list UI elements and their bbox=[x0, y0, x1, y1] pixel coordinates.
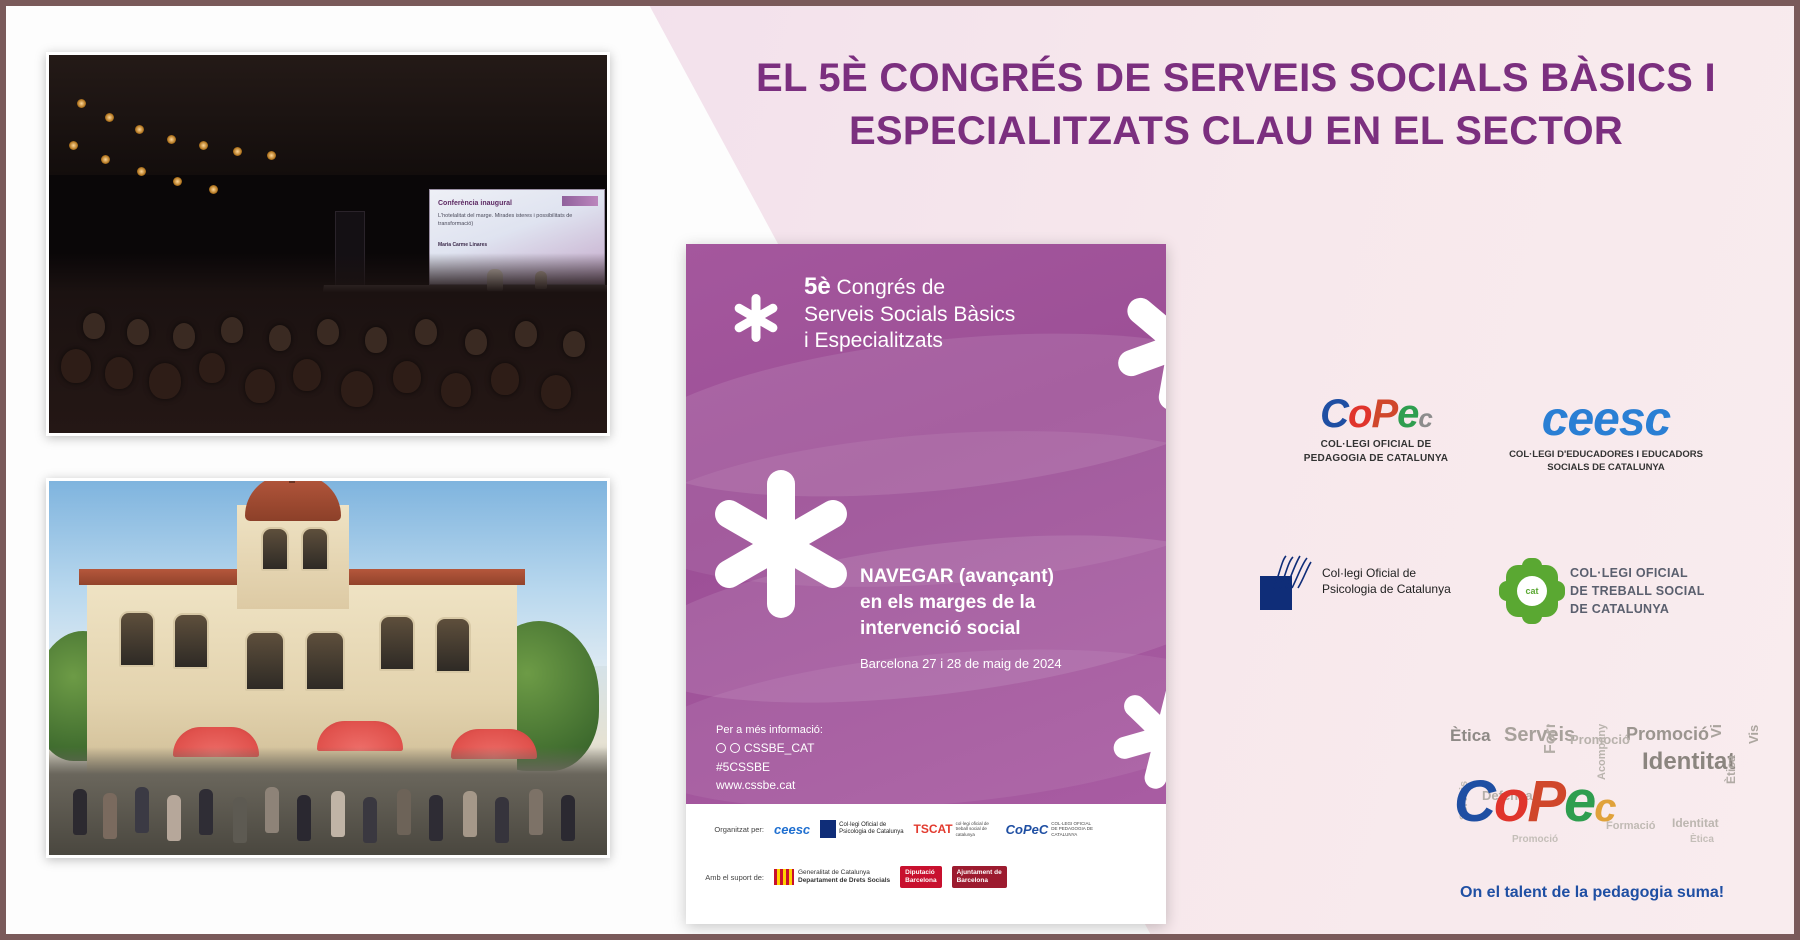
tscat-gear-icon: cat bbox=[1506, 565, 1558, 617]
wc-letter-o: o bbox=[1494, 769, 1527, 834]
organizer-1-name: Col·legi Oficial de bbox=[839, 822, 886, 828]
copec-letter-o: o bbox=[1348, 392, 1371, 436]
wordcloud-word-2: Promoció bbox=[1626, 724, 1709, 745]
wordcloud-word-13: Visibilitat bbox=[1746, 724, 1761, 744]
screen-speaker: Maria Carme Linares bbox=[438, 242, 487, 248]
info-label: Per a més informació: bbox=[716, 722, 823, 739]
wordcloud-word-10: Identitat bbox=[1672, 816, 1719, 830]
building-photo bbox=[46, 478, 610, 858]
slogan-line-2: en els marges de la bbox=[860, 590, 1054, 616]
poster-edition: 5è bbox=[804, 273, 831, 300]
website: www.cssbe.cat bbox=[716, 776, 823, 795]
organizer-logo-psicologia: Col·legi Oficial de Psicologia de Catalu… bbox=[820, 816, 903, 842]
wc-letter-c2: c bbox=[1594, 786, 1614, 830]
asterisk-icon-small bbox=[728, 290, 784, 346]
screen-logo bbox=[562, 196, 598, 206]
social-handle: CSSBE_CAT bbox=[744, 739, 814, 758]
page-title: EL 5È CONGRÉS DE SERVEIS SOCIALS BÀSICS … bbox=[706, 52, 1766, 158]
organizer-logo-ceesc: ceesc bbox=[774, 816, 810, 842]
building-dome bbox=[245, 478, 341, 521]
wordcloud-word-0: Ètica bbox=[1450, 726, 1491, 746]
slogan-line-1: NAVEGAR (avançant) bbox=[860, 564, 1054, 590]
screen-title: Conferència inaugural bbox=[438, 200, 512, 207]
poster-title-line-3: i Especialitzats bbox=[804, 328, 1015, 354]
poster-title-line-2: Serveis Socials Bàsics bbox=[804, 302, 1015, 328]
psicologia-line-1: Col·legi Oficial de bbox=[1322, 566, 1451, 582]
organized-label: Organitzat per: bbox=[702, 825, 764, 834]
screen-subtitle: L'hotelalitat del marge. Mirades isteres… bbox=[438, 212, 604, 229]
organizer-logo-copec: CoPeC COL·LEGI OFICIAL DE PEDAGOGIA DE C… bbox=[1006, 816, 1094, 842]
logo-tscat: cat COL·LEGI OFICIAL DE TREBALL SOCIAL D… bbox=[1506, 564, 1756, 618]
copec-letter-p: P bbox=[1371, 392, 1397, 436]
psicologia-mark-icon bbox=[1256, 554, 1312, 610]
senyera-icon bbox=[774, 869, 794, 885]
supporter-2-name: Ajuntament de bbox=[957, 869, 1002, 876]
organizer-2-name: TSCAT bbox=[914, 822, 953, 836]
poster-date: Barcelona 27 i 28 de maig de 2024 bbox=[860, 656, 1062, 671]
poster-title-line-1: Congrés de bbox=[837, 276, 946, 299]
supporters-row: Amb el suport de: Generalitat de Catalun… bbox=[702, 866, 1007, 888]
audience-area bbox=[49, 253, 607, 433]
wordcloud-word-9: Ètica bbox=[1724, 755, 1738, 784]
organizer-logo-tscat: TSCAT col·legi oficial de treball social… bbox=[914, 816, 996, 842]
logo-ceesc: ceesc COL·LEGI D'EDUCADORES I EDUCADORS … bbox=[1496, 396, 1716, 475]
ceesc-wordmark: ceesc bbox=[1496, 396, 1716, 444]
supporter-1-name: Diputació bbox=[905, 869, 935, 876]
twitter-icon bbox=[716, 743, 726, 753]
wc-letter-c1: C bbox=[1454, 769, 1494, 834]
support-label: Amb el suport de: bbox=[702, 873, 764, 882]
organizer-1-sub: Psicologia de Catalunya bbox=[839, 829, 903, 835]
wordcloud-word-3: Identitat bbox=[1642, 748, 1735, 776]
tscat-mark-text: cat bbox=[1517, 576, 1547, 606]
instagram-icon bbox=[730, 743, 740, 753]
copec-letter-e: e bbox=[1397, 392, 1418, 436]
auditorium-ceiling bbox=[49, 55, 607, 175]
wordcloud-tagline: On el talent de la pedagogia suma! bbox=[1460, 884, 1724, 902]
supporter-2-sub: Barcelona bbox=[957, 877, 988, 884]
copec-letter-c1: C bbox=[1320, 392, 1348, 436]
poster-contact-info: Per a més informació: CSSBE_CAT #5CSSBE … bbox=[716, 722, 823, 795]
copec-sub-line-1: COL·LEGI OFICIAL DE bbox=[1276, 438, 1476, 452]
psicologia-lines-icon bbox=[1272, 554, 1312, 590]
wordcloud-word-8: Promoció bbox=[1570, 732, 1630, 747]
auditorium-photo: Conferència inaugural L'hotelalitat del … bbox=[46, 52, 610, 436]
ceesc-sub-line-1: COL·LEGI D'EDUCADORES I EDUCADORS bbox=[1496, 448, 1716, 461]
logo-copec: CoPec COL·LEGI OFICIAL DE PEDAGOGIA DE C… bbox=[1276, 394, 1476, 465]
organizer-2-sub: col·legi oficial de treball social de ca… bbox=[956, 821, 996, 837]
organizer-0-name: ceesc bbox=[774, 822, 810, 837]
visitors-crowd bbox=[49, 747, 607, 855]
wordcloud-word-4: Formació bbox=[1542, 724, 1560, 754]
tscat-line-2: DE TREBALL SOCIAL bbox=[1570, 582, 1705, 600]
poster-page: Conferència inaugural L'hotelalitat del … bbox=[0, 0, 1800, 940]
supporter-logo-generalitat: Generalitat de Catalunya Departament de … bbox=[774, 869, 890, 885]
organizer-3-name: CoPeC bbox=[1006, 822, 1049, 837]
wordcloud-word-14: Promoció bbox=[1512, 834, 1558, 845]
organizers-row: Organitzat per: ceesc Col·legi Oficial d… bbox=[702, 816, 1093, 842]
wordcloud-canvas: Ètica Serveis Promoció Identitat Formaci… bbox=[1446, 724, 1776, 904]
building-spire bbox=[289, 478, 295, 483]
supporter-logo-ajuntament: Ajuntament de Barcelona bbox=[952, 866, 1007, 888]
copec-wordmark: CoPec bbox=[1276, 394, 1476, 434]
copec-letter-c2: c bbox=[1418, 403, 1431, 433]
asterisk-icon-left bbox=[696, 459, 866, 629]
wordcloud-word-1: Serveis bbox=[1504, 724, 1575, 747]
poster-slogan: NAVEGAR (avançant) en els marges de la i… bbox=[860, 564, 1054, 643]
psicologia-mark-icon bbox=[820, 820, 836, 838]
organizer-3-sub: COL·LEGI OFICIAL DE PEDAGOGIA DE CATALUN… bbox=[1051, 821, 1093, 837]
poster-title-block: 5è Congrés de Serveis Socials Bàsics i E… bbox=[804, 272, 1015, 354]
tscat-line-1: COL·LEGI OFICIAL bbox=[1570, 564, 1705, 582]
tscat-line-3: DE CATALUNYA bbox=[1570, 600, 1705, 618]
copec-sub-line-2: PEDAGOGIA DE CATALUNYA bbox=[1276, 452, 1476, 466]
psicologia-line-2: Psicologia de Catalunya bbox=[1322, 582, 1451, 598]
wc-letter-p: P bbox=[1527, 769, 1564, 834]
asterisk-icon-bottomright bbox=[1106, 676, 1166, 796]
logo-psicologia: Col·legi Oficial de Psicologia de Catalu… bbox=[1256, 554, 1496, 610]
supporter-0-name: Generalitat de Catalunya bbox=[798, 869, 870, 876]
wc-letter-e: e bbox=[1564, 769, 1594, 834]
congress-poster: 5è Congrés de Serveis Socials Bàsics i E… bbox=[686, 244, 1166, 924]
copec-wordcloud: Ètica Serveis Promoció Identitat Formaci… bbox=[1446, 724, 1776, 904]
hashtag: #5CSSBE bbox=[716, 758, 823, 777]
asterisk-icon-topright bbox=[1106, 270, 1166, 420]
wordcloud-word-15: Ètica bbox=[1690, 834, 1714, 845]
wordcloud-word-5: Visibilitat bbox=[1708, 724, 1725, 738]
slogan-line-3: intervenció social bbox=[860, 616, 1054, 642]
ceesc-sub-line-2: SOCIALS DE CATALUNYA bbox=[1496, 461, 1716, 474]
supporter-logo-diputacio: Diputació Barcelona bbox=[900, 866, 941, 888]
poster-artwork: 5è Congrés de Serveis Socials Bàsics i E… bbox=[686, 244, 1166, 804]
supporter-0-sub: Departament de Drets Socials bbox=[798, 877, 890, 884]
wordcloud-copec-mark: CoPec bbox=[1454, 768, 1615, 835]
supporter-1-sub: Barcelona bbox=[905, 877, 936, 884]
poster-sponsor-strip: Organitzat per: ceesc Col·legi Oficial d… bbox=[686, 804, 1166, 924]
